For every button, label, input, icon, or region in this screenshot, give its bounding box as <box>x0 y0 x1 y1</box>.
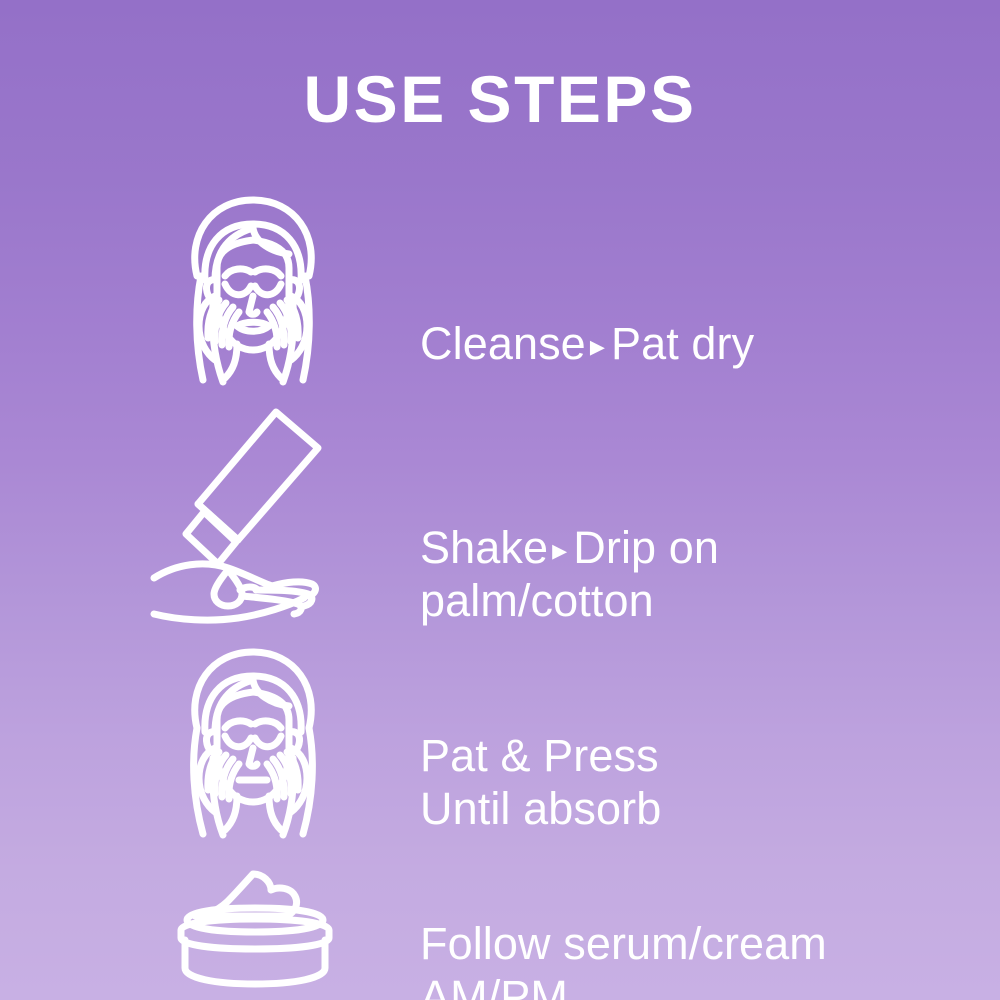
step-4-line1-before: Follow serum/cream <box>420 918 827 969</box>
page-title: USE STEPS <box>0 66 1000 132</box>
step-label-1: Cleanse▸Pat dry <box>420 264 754 370</box>
step-2-separator-icon: ▸ <box>548 533 573 568</box>
step-row-2: Shake▸Drip onpalm/cotton <box>0 396 1000 628</box>
step-row-4: Follow serum/creamAM/PM <box>0 850 1000 1000</box>
step-2-line1-before: Shake <box>420 522 548 573</box>
step-3-line2: Until absorb <box>420 782 661 835</box>
step-2-line1-after: Drip on <box>573 522 719 573</box>
use-steps-poster: USE STEPS <box>0 0 1000 1000</box>
step-1-separator-icon: ▸ <box>586 329 611 364</box>
step-1-line1-after: Pat dry <box>611 318 754 369</box>
tube-drip-palm-icon <box>152 400 347 625</box>
step-row-3: Pat & PressUntil absorb <box>0 628 1000 850</box>
step-row-1: Cleanse▸Pat dry <box>0 178 1000 396</box>
step-1-line1-before: Cleanse <box>420 318 586 369</box>
step-4-line2: AM/PM <box>420 970 827 1000</box>
face-cleanse-icon <box>163 184 343 389</box>
cream-jar-icon <box>165 868 345 988</box>
step-2-line2: palm/cotton <box>420 574 719 627</box>
face-pat-press-icon <box>163 636 343 841</box>
step-3-line1-before: Pat & Press <box>420 730 659 781</box>
step-label-4: Follow serum/creamAM/PM <box>420 864 827 1000</box>
